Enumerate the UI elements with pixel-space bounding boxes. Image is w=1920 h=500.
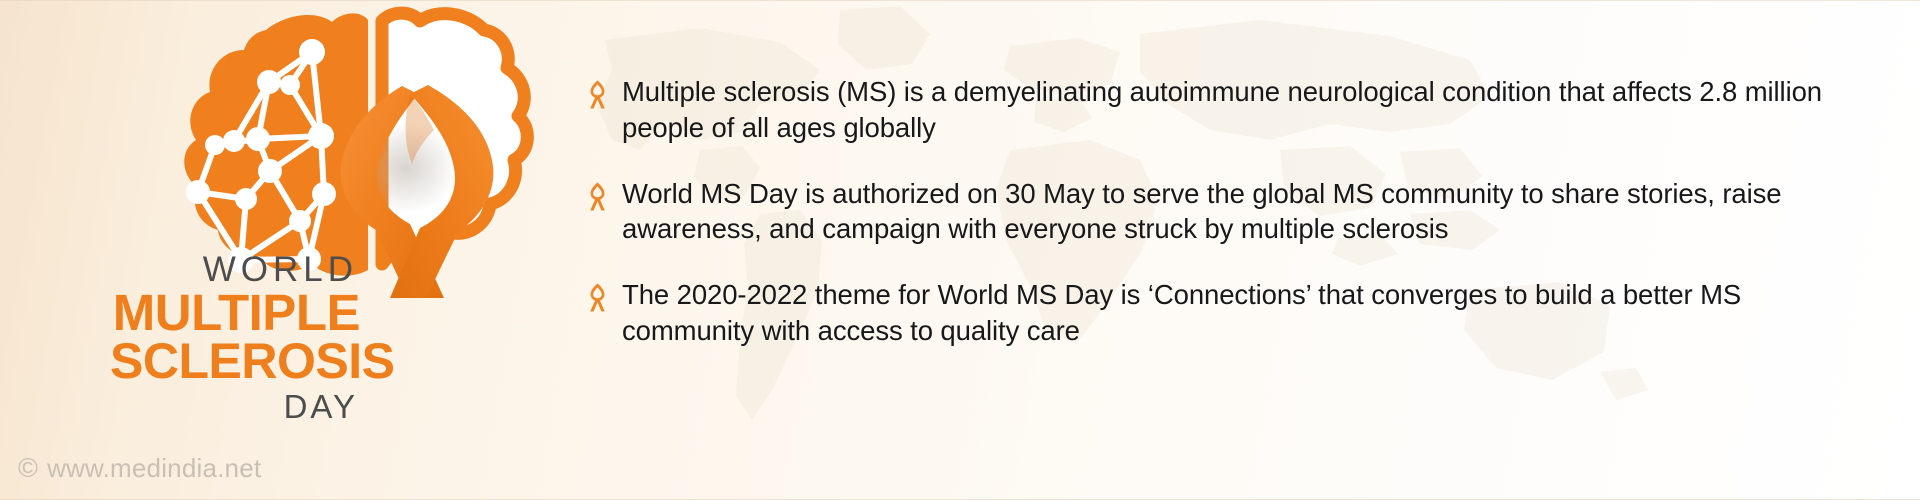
fact-text: World MS Day is authorized on 30 May to … — [622, 176, 1860, 248]
wordmark-world: WORLD — [110, 252, 360, 287]
list-item: Multiple sclerosis (MS) is a demyelinati… — [588, 74, 1888, 146]
facts-list: Multiple sclerosis (MS) is a demyelinati… — [588, 74, 1888, 349]
fact-text: The 2020-2022 theme for World MS Day is … — [622, 277, 1860, 349]
list-item: World MS Day is authorized on 30 May to … — [588, 176, 1888, 248]
watermark-site-url: www.medindia.net — [47, 453, 261, 484]
logo-wordmark: WORLD MULTIPLE SCLEROSIS DAY — [110, 252, 360, 423]
wordmark-multiple: MULTIPLE — [110, 290, 360, 337]
awareness-ribbon-bullet-icon — [588, 277, 622, 312]
site-watermark: © www.medindia.net — [18, 453, 261, 484]
infographic-canvas: WORLD MULTIPLE SCLEROSIS DAY © www.medin… — [0, 0, 1920, 500]
wordmark-sclerosis: SCLEROSIS — [110, 338, 360, 384]
list-item: The 2020-2022 theme for World MS Day is … — [588, 277, 1888, 349]
fact-text: Multiple sclerosis (MS) is a demyelinati… — [622, 74, 1860, 146]
world-ms-day-logo: WORLD MULTIPLE SCLEROSIS DAY — [110, 0, 540, 500]
awareness-ribbon-bullet-icon — [588, 176, 622, 211]
wordmark-day: DAY — [110, 390, 360, 423]
awareness-ribbon-bullet-icon — [588, 74, 622, 109]
brain-left-hemisphere — [184, 13, 368, 275]
copyright-icon: © — [18, 455, 38, 482]
